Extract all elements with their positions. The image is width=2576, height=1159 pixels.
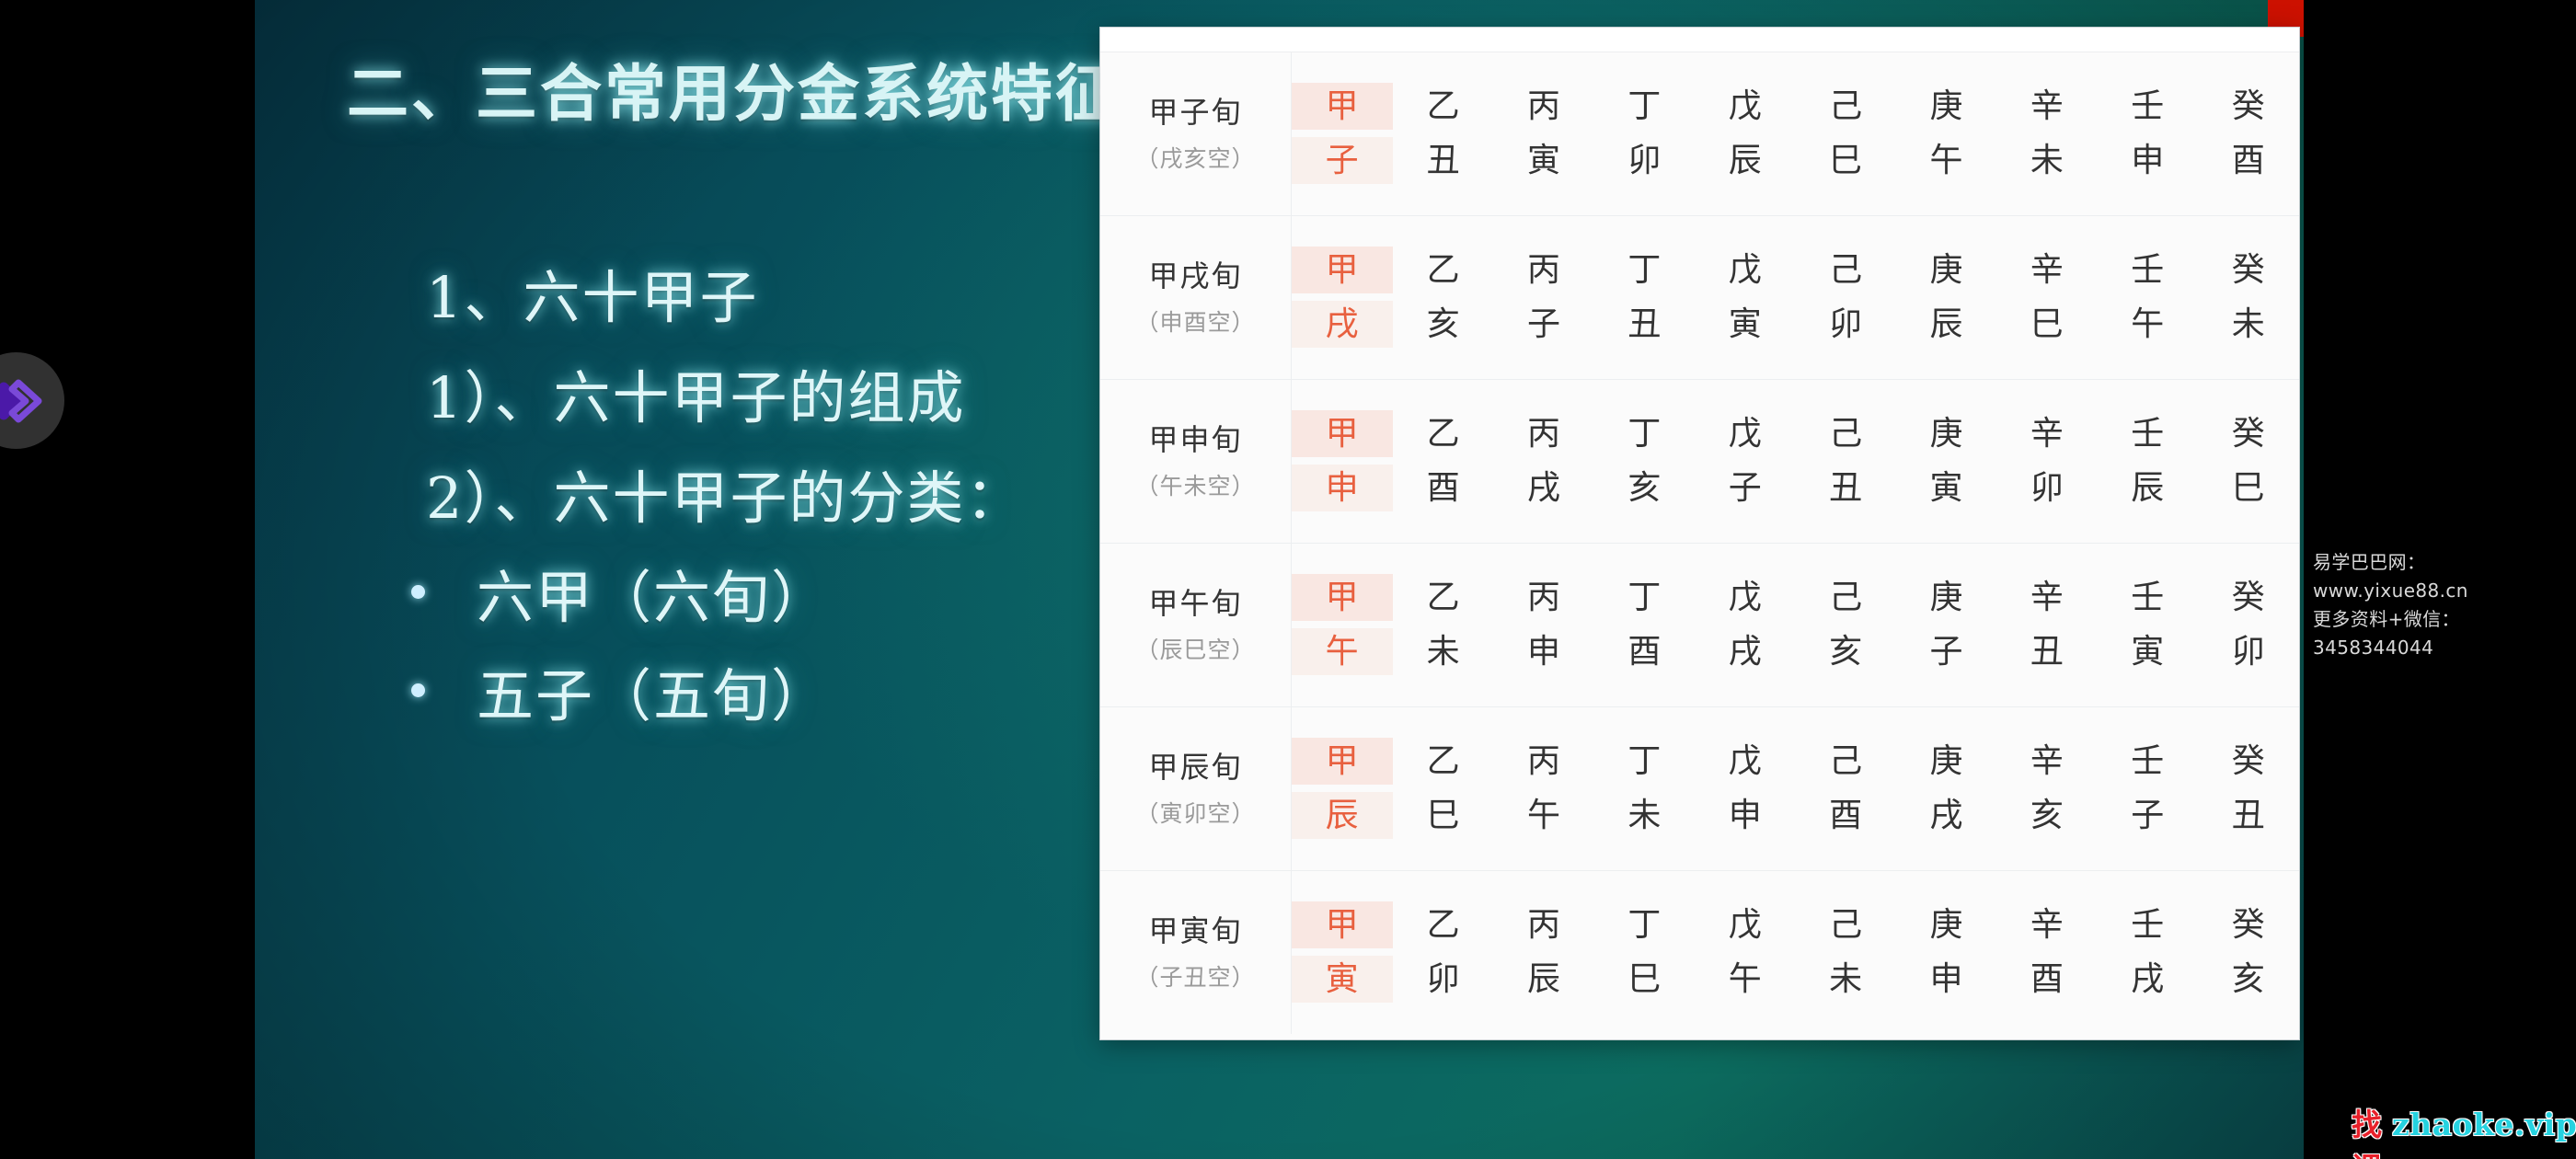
row-label-main: 甲午旬 xyxy=(1100,582,1291,625)
zhi-char: 戌 xyxy=(1696,628,1796,675)
ganzhi-cell: 戊子 xyxy=(1696,379,1796,543)
zhi-char: 未 xyxy=(2199,301,2300,348)
gan-char: 癸 xyxy=(2199,83,2300,130)
gan-char: 乙 xyxy=(1393,247,1493,293)
gan-char: 乙 xyxy=(1393,83,1493,130)
gan-char: 乙 xyxy=(1393,738,1493,785)
list-item: 五子（五旬） xyxy=(310,643,1024,738)
ganzhi-cell: 庚午 xyxy=(1896,52,1996,215)
zhi-char: 酉 xyxy=(2199,137,2300,184)
table-row: 甲午旬 （辰巳空） 甲午 乙未 丙申 丁酉 戊戌 己亥 庚子 辛丑 壬寅 癸卯 xyxy=(1100,543,2299,706)
ganzhi-cell: 辛亥 xyxy=(1997,706,2098,870)
table-row: 甲申旬 （午未空） 甲申 乙酉 丙戌 丁亥 戊子 己丑 庚寅 辛卯 壬辰 癸巳 xyxy=(1100,379,2299,543)
ganzhi-cell: 辛未 xyxy=(1997,52,2098,215)
gan-char: 壬 xyxy=(2098,410,2198,457)
zhi-char: 子 xyxy=(1494,301,1594,348)
zhi-char: 巳 xyxy=(1594,956,1695,1003)
gan-char: 丁 xyxy=(1594,247,1695,293)
ganzhi-cell: 甲戌 xyxy=(1292,215,1394,379)
ganzhi-cell: 丙午 xyxy=(1494,706,1594,870)
list-item-label: 2）、六十甲子的分类： xyxy=(426,452,1024,534)
ganzhi-cell: 丙子 xyxy=(1494,215,1594,379)
page-title: 二、三合常用分金系统特征： xyxy=(347,44,1184,133)
gan-char: 丁 xyxy=(1594,410,1695,457)
ganzhi-cell: 丁巳 xyxy=(1594,870,1695,1034)
list-item: 2）、六十甲子的分类： xyxy=(310,444,1024,541)
ganzhi-cell: 庚子 xyxy=(1896,543,1996,706)
table-row: 甲寅旬 （子丑空） 甲寅 乙卯 丙辰 丁巳 戊午 己未 庚申 辛酉 壬戌 癸亥 xyxy=(1100,870,2299,1034)
ganzhi-cell: 丁未 xyxy=(1594,706,1695,870)
ganzhi-cell: 乙酉 xyxy=(1393,379,1493,543)
gan-char: 壬 xyxy=(2098,83,2198,130)
jiazi-table-card: 甲子旬 （戌亥空） 甲子 乙丑 丙寅 丁卯 戊辰 己巳 庚午 辛未 壬申 癸酉 xyxy=(1100,28,2299,1039)
bullet-list: 1、六十甲子 1）、六十甲子的组成 2）、六十甲子的分类： 六甲（六旬） 五子（ xyxy=(310,244,1024,741)
zhi-char: 子 xyxy=(1292,137,1393,184)
gan-char: 丁 xyxy=(1594,738,1695,785)
row-label-cell: 甲午旬 （辰巳空） xyxy=(1100,543,1292,706)
zhi-char: 辰 xyxy=(1494,956,1594,1003)
ganzhi-cell: 己酉 xyxy=(1796,706,1896,870)
zhi-char: 寅 xyxy=(2098,628,2198,675)
ganzhi-cell: 己丑 xyxy=(1796,379,1896,543)
gan-char: 丙 xyxy=(1494,83,1594,130)
gan-char: 己 xyxy=(1796,83,1896,130)
zhi-char: 未 xyxy=(1393,628,1493,675)
ganzhi-cell: 辛巳 xyxy=(1997,215,2098,379)
gan-char: 己 xyxy=(1796,247,1896,293)
gan-char: 壬 xyxy=(2098,901,2198,948)
gan-char: 戊 xyxy=(1696,901,1796,948)
gan-char: 己 xyxy=(1796,410,1896,457)
zhi-char: 子 xyxy=(2098,792,2198,839)
zhi-char: 酉 xyxy=(1997,956,2098,1003)
zhi-char: 辰 xyxy=(1292,792,1393,839)
ganzhi-cell: 乙亥 xyxy=(1393,215,1493,379)
ganzhi-cell: 癸亥 xyxy=(2199,870,2300,1034)
zhi-char: 未 xyxy=(1594,792,1695,839)
ganzhi-cell: 癸未 xyxy=(2199,215,2300,379)
ganzhi-cell: 壬戌 xyxy=(2098,870,2198,1034)
ganzhi-cell: 丁丑 xyxy=(1594,215,1695,379)
zhi-char: 子 xyxy=(1696,465,1796,511)
row-label-main: 甲子旬 xyxy=(1100,91,1291,133)
table-row: 甲子旬 （戌亥空） 甲子 乙丑 丙寅 丁卯 戊辰 己巳 庚午 辛未 壬申 癸酉 xyxy=(1100,52,2299,215)
zhi-char: 子 xyxy=(1896,628,1996,675)
row-label-main: 甲戌旬 xyxy=(1100,255,1291,297)
gan-char: 戊 xyxy=(1696,574,1796,621)
zhi-char: 申 xyxy=(1696,792,1796,839)
zhi-char: 辰 xyxy=(2098,465,2198,511)
ganzhi-cell: 癸酉 xyxy=(2199,52,2300,215)
gan-char: 庚 xyxy=(1896,83,1996,130)
gan-char: 乙 xyxy=(1393,574,1493,621)
row-label-cell: 甲辰旬 （寅卯空） xyxy=(1100,706,1292,870)
gan-char: 甲 xyxy=(1292,901,1393,948)
gan-char: 辛 xyxy=(1997,738,2098,785)
zhi-char: 丑 xyxy=(1997,628,2098,675)
gan-char: 丙 xyxy=(1494,901,1594,948)
ganzhi-cell: 乙未 xyxy=(1393,543,1493,706)
watermark-line-1: 易学巴巴网：www.yixue88.cn xyxy=(2313,548,2576,605)
zhi-char: 亥 xyxy=(1594,465,1695,511)
row-label-main: 甲寅旬 xyxy=(1100,910,1291,952)
ganzhi-cell: 乙巳 xyxy=(1393,706,1493,870)
ganzhi-cell: 辛丑 xyxy=(1997,543,2098,706)
row-label-cell: 甲申旬 （午未空） xyxy=(1100,379,1292,543)
gan-char: 庚 xyxy=(1896,901,1996,948)
zhi-char: 亥 xyxy=(1796,628,1896,675)
gan-char: 癸 xyxy=(2199,574,2300,621)
gan-char: 甲 xyxy=(1292,738,1393,785)
row-label-cell: 甲子旬 （戌亥空） xyxy=(1100,52,1292,215)
zhi-char: 巳 xyxy=(2199,465,2300,511)
zhi-char: 午 xyxy=(1896,137,1996,184)
zhi-char: 申 xyxy=(1292,465,1393,511)
ganzhi-cell: 丁卯 xyxy=(1594,52,1695,215)
ganzhi-cell: 癸巳 xyxy=(2199,379,2300,543)
zhi-char: 酉 xyxy=(1796,792,1896,839)
ganzhi-cell: 甲申 xyxy=(1292,379,1394,543)
ganzhi-cell: 庚戌 xyxy=(1896,706,1996,870)
zhi-char: 申 xyxy=(2098,137,2198,184)
gan-char: 庚 xyxy=(1896,738,1996,785)
ganzhi-cell: 辛酉 xyxy=(1997,870,2098,1034)
gan-char: 辛 xyxy=(1997,410,2098,457)
gan-char: 己 xyxy=(1796,574,1896,621)
gan-char: 庚 xyxy=(1896,410,1996,457)
list-item-label: 六甲（六旬） xyxy=(477,551,830,634)
gan-char: 乙 xyxy=(1393,901,1493,948)
ganzhi-cell: 己未 xyxy=(1796,870,1896,1034)
gan-char: 辛 xyxy=(1997,247,2098,293)
gan-char: 丁 xyxy=(1594,83,1695,130)
zhi-char: 亥 xyxy=(1997,792,2098,839)
zhi-char: 卯 xyxy=(1997,465,2098,511)
site-watermark: 易学巴巴网：www.yixue88.cn 更多资料+微信：3458344044 xyxy=(2313,548,2576,662)
gan-char: 辛 xyxy=(1997,574,2098,621)
list-item: 1、六十甲子 xyxy=(310,244,1024,340)
ganzhi-cell: 甲辰 xyxy=(1292,706,1394,870)
zhi-char: 卯 xyxy=(1594,137,1695,184)
ganzhi-cell: 壬寅 xyxy=(2098,543,2198,706)
gan-char: 丙 xyxy=(1494,738,1594,785)
ganzhi-cell: 庚寅 xyxy=(1896,379,1996,543)
chevron-right-icon xyxy=(0,373,46,429)
gan-char: 庚 xyxy=(1896,574,1996,621)
gan-char: 戊 xyxy=(1696,410,1796,457)
zhaoke-logo: 找课网 zhaoke.vip xyxy=(2352,1100,2576,1159)
row-label-cell: 甲戌旬 （申酉空） xyxy=(1100,215,1292,379)
ganzhi-cell: 乙丑 xyxy=(1393,52,1493,215)
ganzhi-cell: 丁酉 xyxy=(1594,543,1695,706)
ganzhi-cell: 壬午 xyxy=(2098,215,2198,379)
gan-char: 乙 xyxy=(1393,410,1493,457)
zhi-char: 卯 xyxy=(1393,956,1493,1003)
zhi-char: 寅 xyxy=(1494,137,1594,184)
ganzhi-cell: 戊申 xyxy=(1696,706,1796,870)
gan-char: 己 xyxy=(1796,901,1896,948)
zhi-char: 丑 xyxy=(2199,792,2300,839)
gan-char: 丁 xyxy=(1594,901,1695,948)
list-item-label: 五子（五旬） xyxy=(477,649,830,732)
gan-char: 戊 xyxy=(1696,83,1796,130)
gan-char: 甲 xyxy=(1292,83,1393,130)
ganzhi-cell: 辛卯 xyxy=(1997,379,2098,543)
row-label-sub: （子丑空） xyxy=(1100,961,1291,994)
ganzhi-cell: 乙卯 xyxy=(1393,870,1493,1034)
ganzhi-cell: 己卯 xyxy=(1796,215,1896,379)
ganzhi-cell: 庚申 xyxy=(1896,870,1996,1034)
logo-text-en: zhaoke.vip xyxy=(2392,1107,2576,1142)
letterbox-bar-left xyxy=(0,0,255,1159)
ganzhi-cell: 甲寅 xyxy=(1292,870,1394,1034)
gan-char: 壬 xyxy=(2098,247,2198,293)
logo-text-cn: 找课网 xyxy=(2352,1100,2383,1159)
ganzhi-cell: 己亥 xyxy=(1796,543,1896,706)
zhi-char: 巳 xyxy=(1393,792,1493,839)
gan-char: 庚 xyxy=(1896,247,1996,293)
ganzhi-cell: 戊辰 xyxy=(1696,52,1796,215)
gan-char: 丙 xyxy=(1494,410,1594,457)
zhi-char: 丑 xyxy=(1796,465,1896,511)
gan-char: 甲 xyxy=(1292,574,1393,621)
ganzhi-cell: 壬子 xyxy=(2098,706,2198,870)
gan-char: 壬 xyxy=(2098,574,2198,621)
gan-char: 戊 xyxy=(1696,247,1796,293)
zhi-char: 辰 xyxy=(1696,137,1796,184)
ganzhi-cell: 癸卯 xyxy=(2199,543,2300,706)
zhi-char: 午 xyxy=(1292,628,1393,675)
row-label-sub: （午未空） xyxy=(1100,470,1291,503)
zhi-char: 戌 xyxy=(1292,301,1393,348)
gan-char: 癸 xyxy=(2199,901,2300,948)
zhi-char: 申 xyxy=(1896,956,1996,1003)
zhi-char: 酉 xyxy=(1393,465,1493,511)
zhi-char: 戌 xyxy=(1896,792,1996,839)
zhi-char: 寅 xyxy=(1696,301,1796,348)
gan-char: 己 xyxy=(1796,738,1896,785)
ganzhi-cell: 丙戌 xyxy=(1494,379,1594,543)
ganzhi-cell: 甲子 xyxy=(1292,52,1394,215)
zhi-char: 辰 xyxy=(1896,301,1996,348)
zhi-char: 卯 xyxy=(2199,628,2300,675)
gan-char: 辛 xyxy=(1997,83,2098,130)
gan-char: 丙 xyxy=(1494,574,1594,621)
ganzhi-cell: 壬辰 xyxy=(2098,379,2198,543)
zhi-char: 丑 xyxy=(1594,301,1695,348)
zhi-char: 寅 xyxy=(1292,956,1393,1003)
zhi-char: 申 xyxy=(1494,628,1594,675)
list-item: 六甲（六旬） xyxy=(310,545,1024,639)
zhi-char: 午 xyxy=(1696,956,1796,1003)
table-row: 甲戌旬 （申酉空） 甲戌 乙亥 丙子 丁丑 戊寅 己卯 庚辰 辛巳 壬午 癸未 xyxy=(1100,215,2299,379)
zhi-char: 寅 xyxy=(1896,465,1996,511)
row-label-cell: 甲寅旬 （子丑空） xyxy=(1100,870,1292,1034)
zhi-char: 午 xyxy=(2098,301,2198,348)
gan-char: 丁 xyxy=(1594,574,1695,621)
gan-char: 癸 xyxy=(2199,410,2300,457)
ganzhi-cell: 丁亥 xyxy=(1594,379,1695,543)
ganzhi-cell: 己巳 xyxy=(1796,52,1896,215)
jiazi-table: 甲子旬 （戌亥空） 甲子 乙丑 丙寅 丁卯 戊辰 己巳 庚午 辛未 壬申 癸酉 xyxy=(1100,52,2299,1034)
ganzhi-cell: 丙寅 xyxy=(1494,52,1594,215)
list-item-label: 1）、六十甲子的组成 xyxy=(426,351,965,434)
zhi-char: 戌 xyxy=(2098,956,2198,1003)
gan-char: 甲 xyxy=(1292,247,1393,293)
zhi-char: 未 xyxy=(1997,137,2098,184)
ganzhi-cell: 戊午 xyxy=(1696,870,1796,1034)
ganzhi-cell: 癸丑 xyxy=(2199,706,2300,870)
zhi-char: 巳 xyxy=(1997,301,2098,348)
gan-char: 丙 xyxy=(1494,247,1594,293)
gan-char: 癸 xyxy=(2199,247,2300,293)
row-label-sub: （辰巳空） xyxy=(1100,634,1291,667)
zhi-char: 亥 xyxy=(1393,301,1493,348)
gan-char: 癸 xyxy=(2199,738,2300,785)
zhi-char: 戌 xyxy=(1494,465,1594,511)
list-item-label: 1、六十甲子 xyxy=(426,251,758,334)
gan-char: 戊 xyxy=(1696,738,1796,785)
row-label-sub: （申酉空） xyxy=(1100,306,1291,339)
table-header-strip xyxy=(1100,28,2299,52)
screenshot-stage: 二、三合常用分金系统特征： 1、六十甲子 1）、六十甲子的组成 2）、六十甲子的… xyxy=(0,0,2576,1159)
bullet-dot-icon xyxy=(411,585,425,599)
zhi-char: 巳 xyxy=(1796,137,1896,184)
row-label-main: 甲申旬 xyxy=(1100,419,1291,461)
ganzhi-cell: 丙申 xyxy=(1494,543,1594,706)
zhi-char: 亥 xyxy=(2199,956,2300,1003)
row-label-sub: （寅卯空） xyxy=(1100,798,1291,831)
row-label-main: 甲辰旬 xyxy=(1100,746,1291,788)
list-item: 1）、六十甲子的组成 xyxy=(310,344,1024,441)
watermark-line-2: 更多资料+微信：3458344044 xyxy=(2313,605,2576,662)
bullet-dot-icon xyxy=(411,683,425,697)
ganzhi-cell: 壬申 xyxy=(2098,52,2198,215)
ganzhi-cell: 戊寅 xyxy=(1696,215,1796,379)
gan-char: 壬 xyxy=(2098,738,2198,785)
ganzhi-cell: 丙辰 xyxy=(1494,870,1594,1034)
row-label-sub: （戌亥空） xyxy=(1100,143,1291,176)
zhi-char: 午 xyxy=(1494,792,1594,839)
ganzhi-cell: 庚辰 xyxy=(1896,215,1996,379)
zhi-char: 酉 xyxy=(1594,628,1695,675)
gan-char: 甲 xyxy=(1292,410,1393,457)
table-row: 甲辰旬 （寅卯空） 甲辰 乙巳 丙午 丁未 戊申 己酉 庚戌 辛亥 壬子 癸丑 xyxy=(1100,706,2299,870)
ganzhi-cell: 戊戌 xyxy=(1696,543,1796,706)
zhi-char: 未 xyxy=(1796,956,1896,1003)
ganzhi-cell: 甲午 xyxy=(1292,543,1394,706)
zhi-char: 丑 xyxy=(1393,137,1493,184)
gan-char: 辛 xyxy=(1997,901,2098,948)
zhi-char: 卯 xyxy=(1796,301,1896,348)
